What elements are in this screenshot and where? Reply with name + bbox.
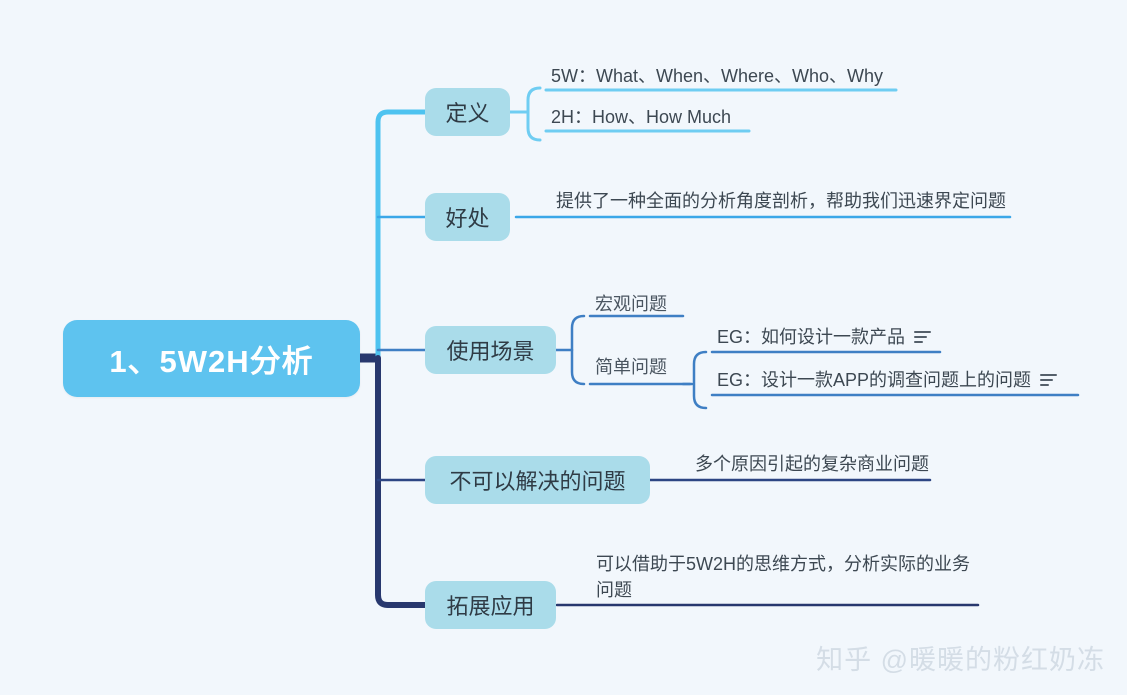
branch-node-extended[interactable]: 拓展应用 [425,581,556,629]
leaf-definition-5w[interactable]: 5W：What、When、Where、Who、Why [551,64,883,91]
watermark: 知乎 @暖暖的粉红奶冻 [816,638,1105,677]
root-node[interactable]: 1、5W2H分析 [63,320,360,397]
leaf-use-case-eg-app[interactable]: EG：设计一款APP的调查问题上的问题 [717,368,1057,395]
note-lines-icon[interactable] [1040,374,1057,387]
leaf-benefit-description[interactable]: 提供了一种全面的分析角度剖析，帮助我们迅速界定问题 [556,189,1006,216]
leaf-text: EG：如何设计一款产品 [717,327,905,347]
leaf-extended-description[interactable]: 可以借助于5W2H的思维方式，分析实际的业务问题 [596,551,981,606]
sublabel-simple-problem[interactable]: 简单问题 [595,353,667,379]
branch-node-use-case[interactable]: 使用场景 [425,326,556,374]
leaf-use-case-eg-product[interactable]: EG：如何设计一款产品 [717,325,931,352]
branch-node-definition[interactable]: 定义 [425,88,510,136]
leaf-definition-2h[interactable]: 2H：How、How Much [551,105,731,132]
branch-node-benefit[interactable]: 好处 [425,193,510,241]
branch-node-unsolvable[interactable]: 不可以解决的问题 [425,456,650,504]
leaf-text: EG：设计一款APP的调查问题上的问题 [717,370,1031,390]
mindmap-canvas: 1、5W2H分析 定义 好处 使用场景 不可以解决的问题 拓展应用 5W：Wha… [0,0,1127,695]
sublabel-macro-problem[interactable]: 宏观问题 [595,290,667,316]
note-lines-icon[interactable] [914,331,931,344]
leaf-unsolvable-description[interactable]: 多个原因引起的复杂商业问题 [695,452,929,479]
